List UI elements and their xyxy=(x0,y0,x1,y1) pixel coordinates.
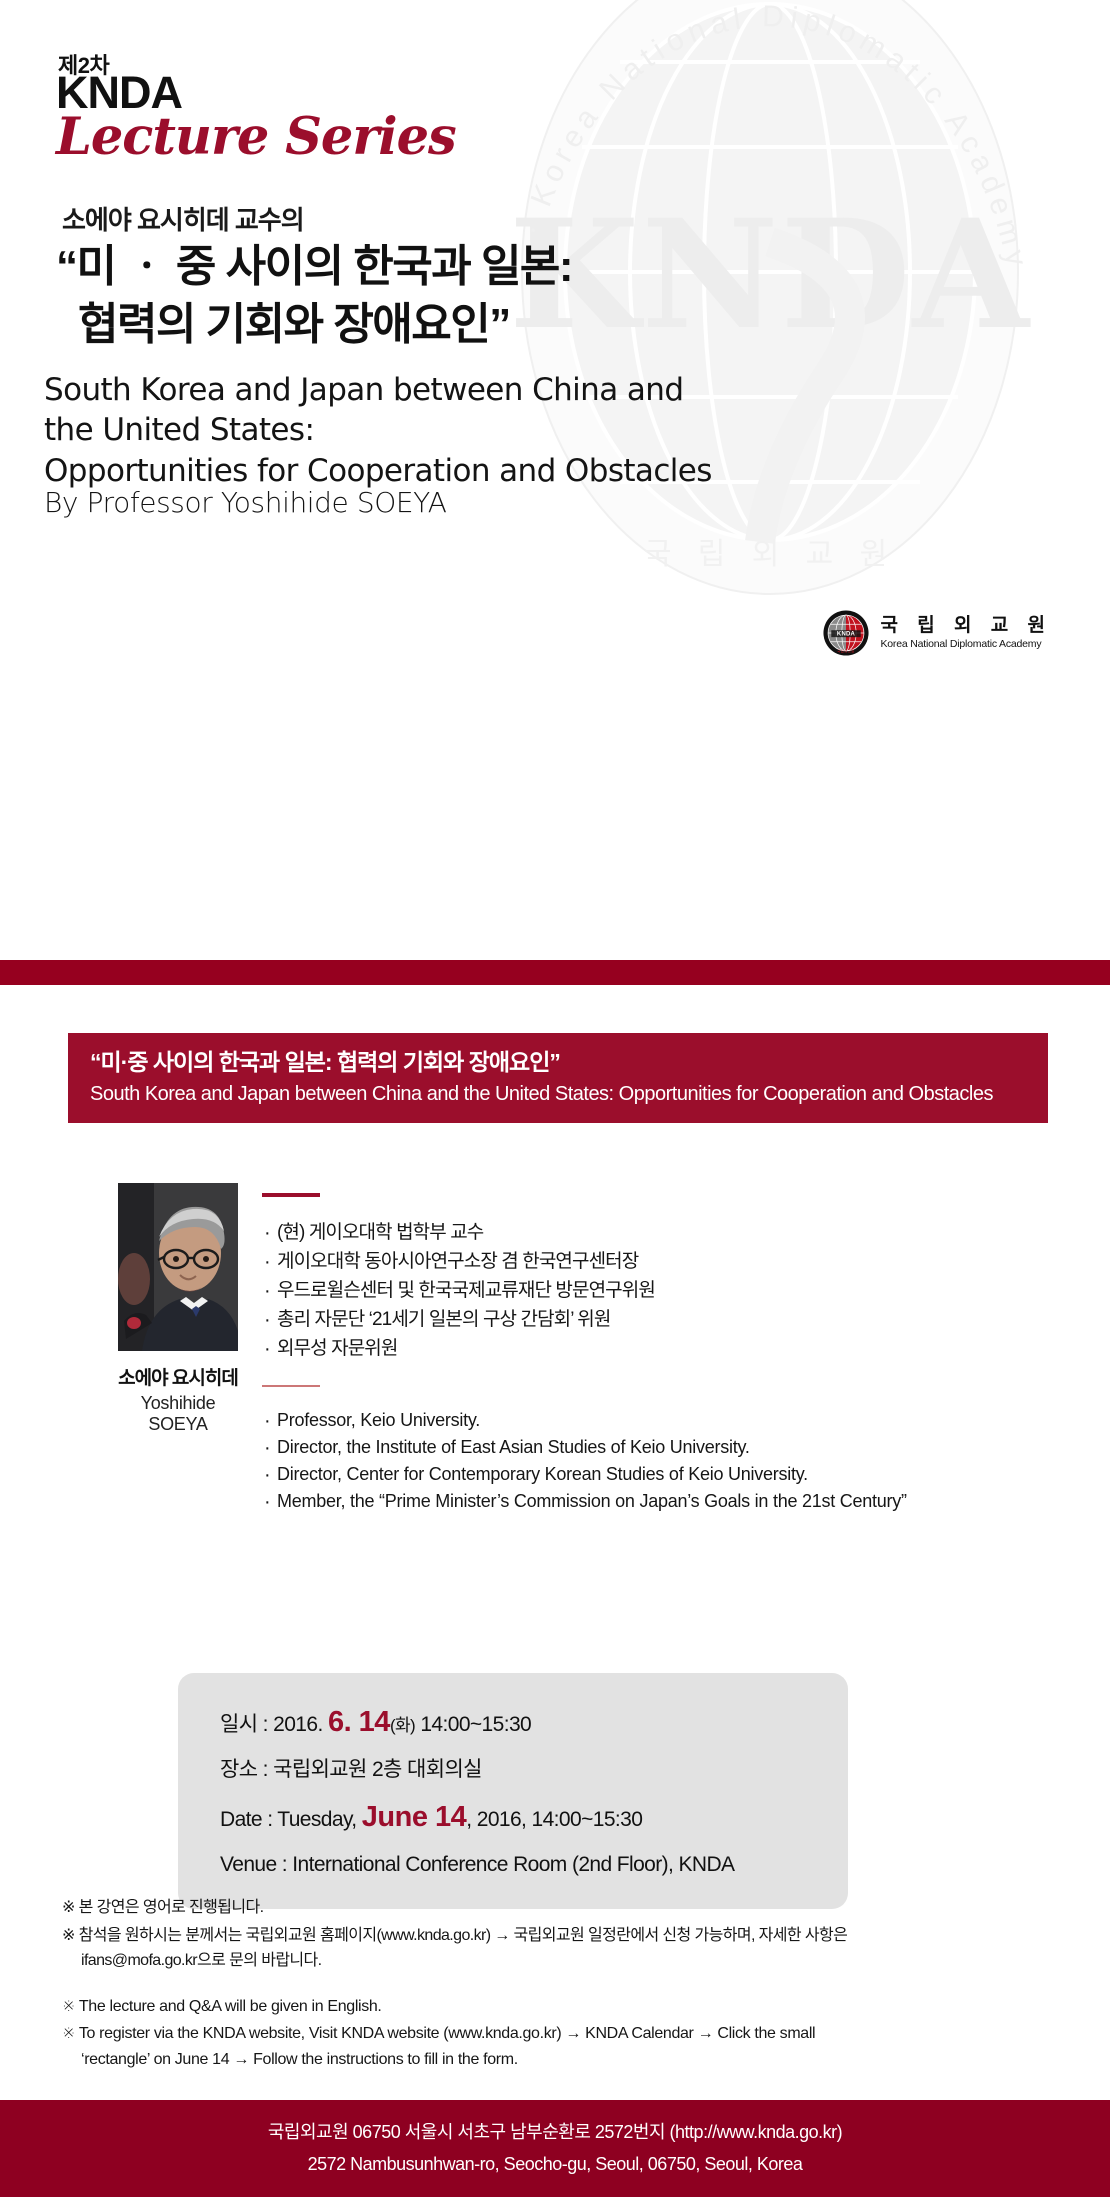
bio-list-ko: (현) 게이오대학 법학부 교수 게이오대학 동아시아연구소장 겸 한국연구센터… xyxy=(262,1219,962,1363)
speaker-bio-column: (현) 게이오대학 법학부 교수 게이오대학 동아시아연구소장 겸 한국연구센터… xyxy=(262,1183,962,1515)
note-mark: ※ xyxy=(62,1899,75,1916)
title-banner: “미·중 사이의 한국과 일본: 협력의 기회와 장애요인” South Kor… xyxy=(68,1033,1048,1123)
banner-title-ko: “미·중 사이의 한국과 일본: 협력의 기회와 장애요인” xyxy=(90,1047,1030,1078)
event-details-box: 일시 : 2016. 6. 14(화) 14:00~15:30 장소 : 국립외… xyxy=(178,1673,848,1909)
event-date-en-highlight: June 14 xyxy=(362,1801,467,1833)
lecture-byline-en: By Professor Yoshihide SOEYA xyxy=(44,486,446,519)
list-item: (현) 게이오대학 법학부 교수 xyxy=(262,1219,962,1248)
speaker-portrait-photo xyxy=(118,1183,238,1351)
lecture-title-en-line3: Opportunities for Cooperation and Obstac… xyxy=(44,451,764,491)
list-item: Director, Center for Contemporary Korean… xyxy=(262,1461,962,1488)
note-mark: ※ xyxy=(62,1998,75,2015)
event-date-ko-weekday: (화) xyxy=(390,1716,415,1735)
list-item: Director, the Institute of East Asian St… xyxy=(262,1434,962,1461)
lecture-title-en-line2: the United States: xyxy=(44,410,764,450)
knda-logo-lockup: KNDA 국립외교원 국 립 외 교 원 Korea National Dipl… xyxy=(823,610,1052,656)
event-venue-ko: 장소 : 국립외교원 2층 대회의실 xyxy=(220,1750,848,1790)
knda-globe-icon: KNDA 국립외교원 xyxy=(823,610,869,656)
speaker-prefix-ko: 소에야 요시히데 교수의 xyxy=(62,200,304,237)
event-date-en-label: Date : Tuesday, xyxy=(220,1808,362,1831)
note-item: ※ 본 강연은 영어로 진행됩니다. xyxy=(62,1895,1062,1921)
knda-logo-text: 국 립 외 교 원 Korea National Diplomatic Acad… xyxy=(880,615,1052,650)
event-date-en-rest: , 2016, 14:00~15:30 xyxy=(466,1808,642,1831)
note-text-cont: ‘rectangle’ on June 14 → Follow the inst… xyxy=(62,2047,1062,2073)
lecture-title-en-line1: South Korea and Japan between China and xyxy=(44,370,764,410)
note-item: ※ The lecture and Q&A will be given in E… xyxy=(62,1994,1062,2020)
note-mark: ※ xyxy=(62,1927,75,1944)
banner-title-en-line1: South Korea and Japan between China and … xyxy=(90,1083,758,1105)
svg-text:국립외교원: 국립외교원 xyxy=(838,648,856,653)
note-mark: ※ xyxy=(62,2025,75,2042)
event-date-ko-label: 일시 : 2016. xyxy=(220,1713,328,1736)
notes-english: ※ The lecture and Q&A will be given in E… xyxy=(62,1994,1062,2073)
lecture-series-title: Lecture Series xyxy=(56,108,456,167)
svg-text:국 립 외 교 원: 국 립 외 교 원 xyxy=(644,538,896,571)
note-text: To register via the KNDA website, Visit … xyxy=(79,2025,815,2042)
lecture-title-ko-line2: 협력의 기회와 장애요인” xyxy=(56,296,756,354)
banner-title-en: South Korea and Japan between China and … xyxy=(90,1081,1030,1107)
notes-korean: ※ 본 강연은 영어로 진행됩니다. ※ 참석을 원하시는 분께서는 국립외교원… xyxy=(62,1895,1062,1974)
list-item: 게이오대학 동아시아연구소장 겸 한국연구센터장 xyxy=(262,1248,962,1277)
knda-logo-name-en: Korea National Diplomatic Academy xyxy=(880,638,1052,651)
svg-text:KNDA: KNDA xyxy=(837,632,856,638)
note-text: The lecture and Q&A will be given in Eng… xyxy=(79,1998,382,2015)
list-item: 총리 자문단 ‘21세기 일본의 구상 간담회’ 위원 xyxy=(262,1306,962,1335)
speaker-name-ko: 소에야 요시히데 xyxy=(118,1363,238,1390)
bio-rule-middle xyxy=(262,1385,320,1387)
list-item: 외무성 자문위원 xyxy=(262,1335,962,1364)
list-item: Member, the “Prime Minister’s Commission… xyxy=(262,1488,962,1515)
list-item: Professor, Keio University. xyxy=(262,1407,962,1434)
note-item: ※ To register via the KNDA website, Visi… xyxy=(62,2021,1062,2072)
note-text: 참석을 원하시는 분께서는 국립외교원 홈페이지(www.knda.go.kr)… xyxy=(79,1927,848,1944)
lecture-title-en: South Korea and Japan between China and … xyxy=(44,370,764,491)
bio-list-en: Professor, Keio University. Director, th… xyxy=(262,1407,962,1515)
speaker-photo-column: 소에야 요시히데 Yoshihide SOEYA xyxy=(118,1183,238,1435)
section-divider-band xyxy=(0,960,1110,985)
banner-title-en-line2: Cooperation and Obstacles xyxy=(763,1083,993,1105)
footer-address-ko: 국립외교원 06750 서울시 서초구 남부순환로 2572번지 (http:/… xyxy=(268,2117,842,2149)
event-date-ko-highlight: 6. 14 xyxy=(328,1706,390,1738)
event-date-ko-time: 14:00~15:30 xyxy=(415,1713,531,1736)
note-item: ※ 참석을 원하시는 분께서는 국립외교원 홈페이지(www.knda.go.k… xyxy=(62,1923,1062,1974)
note-text: 본 강연은 영어로 진행됩니다. xyxy=(79,1899,264,1916)
list-item: 우드로윌슨센터 및 한국국제교류재단 방문연구위원 xyxy=(262,1277,962,1306)
lecture-title-ko-line1: “미 ㆍ 중 사이의 한국과 일본: xyxy=(56,242,572,291)
lecture-title-ko: “미 ㆍ 중 사이의 한국과 일본: 협력의 기회와 장애요인” xyxy=(56,238,756,354)
poster-root: KNDA · Korea National Diplomatic Academy… xyxy=(0,0,1110,2197)
event-date-en: Date : Tuesday, June 14, 2016, 14:00~15:… xyxy=(220,1790,848,1845)
footer-address-bar: 국립외교원 06750 서울시 서초구 남부순환로 2572번지 (http:/… xyxy=(0,2100,1110,2197)
notes-section: ※ 본 강연은 영어로 진행됩니다. ※ 참석을 원하시는 분께서는 국립외교원… xyxy=(62,1895,1062,2075)
speaker-name-en: Yoshihide SOEYA xyxy=(118,1393,238,1435)
knda-logo-name-ko: 국 립 외 교 원 xyxy=(880,615,1052,637)
footer-address-en: 2572 Nambusunhwan-ro, Seocho-gu, Seoul, … xyxy=(308,2149,803,2181)
note-text-cont: ifans@mofa.go.kr으로 문의 바랍니다. xyxy=(62,1948,1062,1974)
event-date-ko: 일시 : 2016. 6. 14(화) 14:00~15:30 xyxy=(220,1695,848,1750)
bio-rule-top xyxy=(262,1193,320,1197)
event-venue-en: Venue : International Conference Room (2… xyxy=(220,1845,848,1885)
